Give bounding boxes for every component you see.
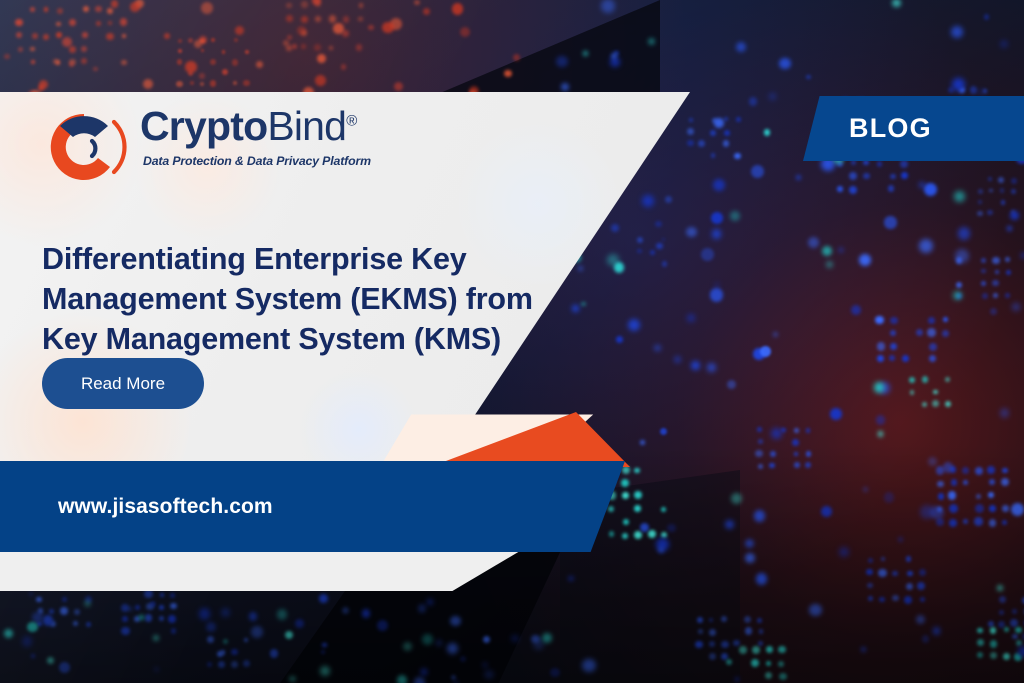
headline: Differentiating Enterprise Key Managemen… bbox=[42, 239, 587, 359]
brand-tagline: Data Protection & Data Privacy Platform bbox=[143, 154, 371, 168]
headline-line-1: Differentiating Enterprise Key bbox=[42, 239, 587, 279]
lower-white-strip bbox=[0, 551, 520, 591]
registered-trademark-icon: ® bbox=[346, 112, 356, 129]
blog-badge: BLOG bbox=[803, 96, 1024, 161]
read-more-button[interactable]: Read More bbox=[42, 358, 204, 409]
footer-url-bar: www.jisasoftech.com bbox=[0, 461, 625, 552]
brand-logo[interactable]: CryptoBind® Data Protection & Data Priva… bbox=[38, 104, 371, 190]
brand-wordmark: CryptoBind® bbox=[140, 106, 371, 147]
wordmark-bind: Bind bbox=[267, 103, 346, 149]
wordmark-crypto: Crypto bbox=[140, 103, 267, 149]
brand-wordmark-group: CryptoBind® Data Protection & Data Priva… bbox=[140, 106, 371, 168]
headline-line-2: Management System (EKMS) from bbox=[42, 279, 587, 319]
headline-line-3: Key Management System (KMS) bbox=[42, 319, 587, 359]
blog-badge-label: BLOG bbox=[849, 113, 932, 144]
website-url[interactable]: www.jisasoftech.com bbox=[58, 495, 273, 519]
blog-banner: BLOG CryptoBind® Data Protection & Data … bbox=[0, 0, 1024, 683]
cryptobind-logo-mark-icon bbox=[38, 104, 130, 190]
